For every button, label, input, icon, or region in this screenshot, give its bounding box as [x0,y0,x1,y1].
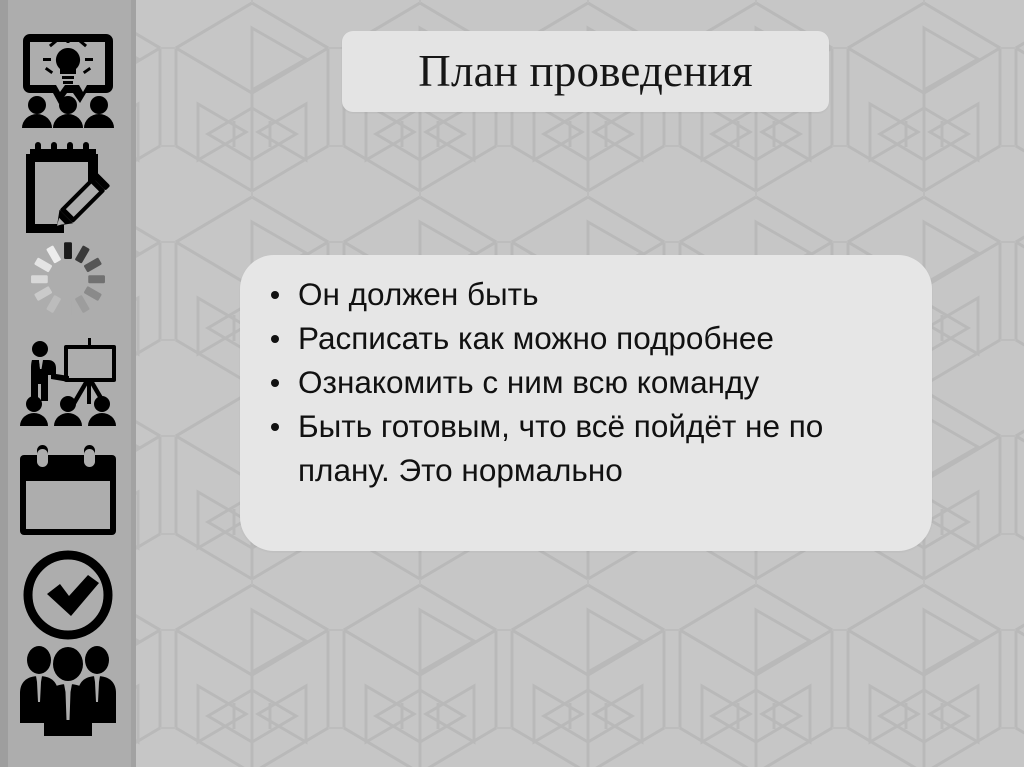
sidebar-right-edge [131,0,136,767]
calendar-icon [18,443,118,535]
bullet-dot-icon [271,335,279,343]
presentation-slide: План проведения Он должен быть Расписать… [0,0,1024,767]
list-item: Он должен быть [262,273,916,316]
bullet-dot-icon [271,423,279,431]
content-plate: Он должен быть Расписать как можно подро… [240,255,932,551]
list-item: Быть готовым, что всё пойдёт не по плану… [262,405,916,491]
list-item-text: Расписать как можно подробнее [298,320,774,356]
bullet-dot-icon [271,379,279,387]
list-item-text: Быть готовым, что всё пойдёт не по плану… [298,408,823,487]
list-item: Расписать как можно подробнее [262,317,916,360]
notepad-pencil-icon [18,140,118,235]
sidebar-left-edge [0,0,8,767]
title-plate: План проведения [342,31,829,112]
idea-presentation-audience-icon [18,28,118,128]
bullet-list: Он должен быть Расписать как можно подро… [262,273,916,493]
presenter-whiteboard-audience-icon [18,336,118,426]
list-item: Ознакомить с ним всю команду [262,361,916,404]
list-item-text: Он должен быть [298,276,539,312]
bullet-dot-icon [271,291,279,299]
team-people-icon [18,640,118,736]
check-circle-icon [18,549,118,641]
loading-spinner-icon [18,237,118,325]
list-item-text: Ознакомить с ним всю команду [298,364,759,400]
page-title: План проведения [418,49,752,94]
